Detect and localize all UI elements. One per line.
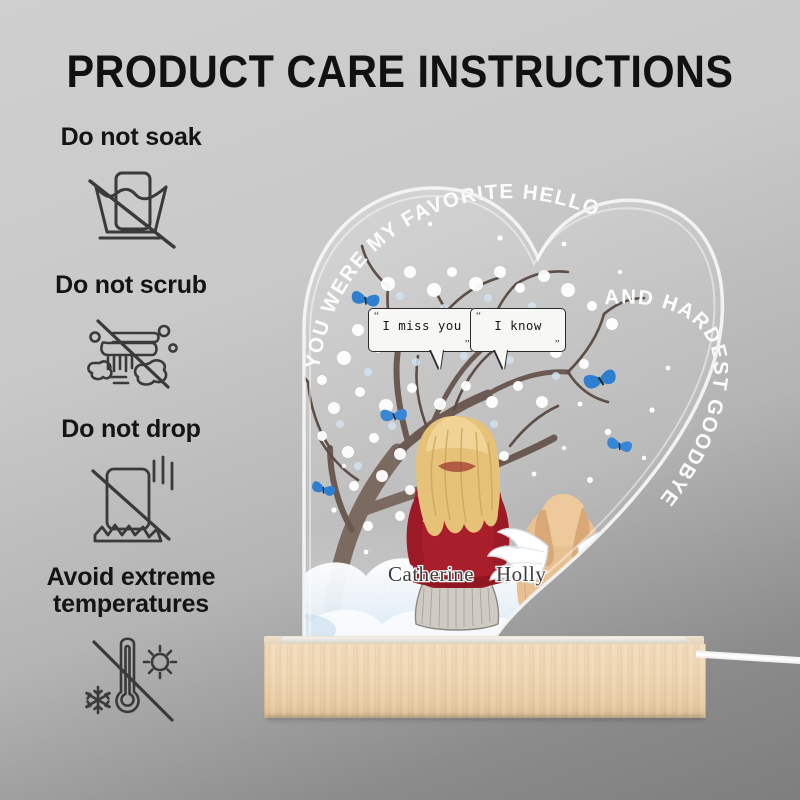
care-label-do-not-scrub: Do not scrub <box>12 272 250 299</box>
wooden-led-base <box>264 636 704 722</box>
care-label-line-1: Avoid extreme <box>12 564 250 591</box>
care-item-avoid-extreme-temperatures: Avoid extreme temperatures <box>12 564 250 726</box>
care-item-do-not-soak: Do not soak <box>12 124 250 251</box>
woman-figure <box>407 416 510 630</box>
product-care-instructions-page: PRODUCT CARE INSTRUCTIONS Do not soak <box>0 0 800 800</box>
care-item-do-not-drop: Do not drop <box>12 416 250 547</box>
power-cord <box>696 650 800 684</box>
wood-base-front <box>264 644 706 718</box>
care-label-do-not-soak: Do not soak <box>12 124 250 151</box>
acrylic-heart-plaque: YOU WERE MY FAVORITE HELLO AND HARDEST G… <box>248 180 728 650</box>
care-label-avoid-extreme-temperatures: Avoid extreme temperatures <box>12 564 250 618</box>
no-soak-icon <box>12 159 250 251</box>
no-extreme-temperature-icon <box>12 626 250 726</box>
wood-base-slot <box>282 637 686 643</box>
acrylic-led-lamp: YOU WERE MY FAVORITE HELLO AND HARDEST G… <box>248 180 748 740</box>
care-item-do-not-scrub: Do not scrub <box>12 272 250 393</box>
care-label-line-2: temperatures <box>12 591 250 618</box>
no-drop-icon <box>12 451 250 547</box>
wood-base-shadow <box>266 716 704 722</box>
no-scrub-icon <box>12 307 250 393</box>
page-title: PRODUCT CARE INSTRUCTIONS <box>32 46 768 98</box>
care-label-do-not-drop: Do not drop <box>12 416 250 443</box>
